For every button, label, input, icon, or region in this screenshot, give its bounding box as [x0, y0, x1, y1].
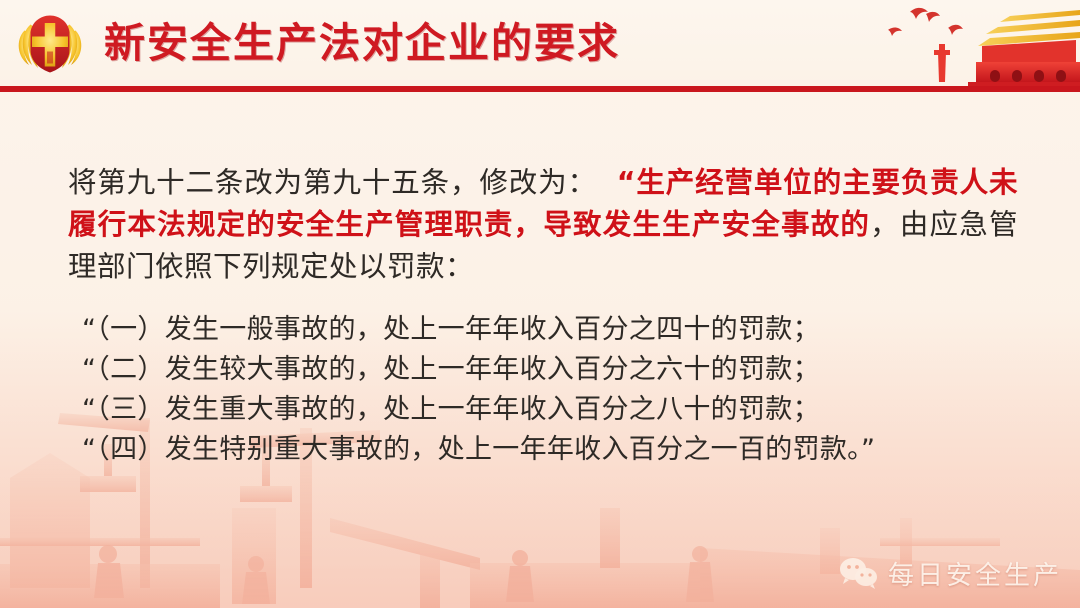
watermark: 每日安全生产: [838, 555, 1062, 592]
list-item: “（一）发生一般事故的，处上一年年收入百分之四十的罚款；: [82, 310, 1022, 350]
list-item: “（四）发生特别重大事故的，处上一年年收入百分之一百的罚款。”: [82, 430, 1022, 470]
list-item: “（二）发生较大事故的，处上一年年收入百分之六十的罚款；: [82, 350, 1022, 390]
page-title: 新安全生产法对企业的要求: [104, 13, 620, 73]
slide-content: 将第九十二条改为第九十五条，修改为： “生产经营单位的主要负责人未履行本法规定的…: [0, 92, 1080, 608]
tiananmen-gate-icon: [850, 0, 1080, 92]
paragraph-open-quote: “: [617, 166, 636, 199]
slide: 新安全生产法对企业的要求: [0, 0, 1080, 608]
main-paragraph: 将第九十二条改为第九十五条，修改为： “生产经营单位的主要负责人未履行本法规定的…: [68, 162, 1018, 288]
wechat-icon: [838, 557, 878, 591]
penalty-list: “（一）发生一般事故的，处上一年年收入百分之四十的罚款； “（二）发生较大事故的…: [82, 310, 1022, 470]
paragraph-lead: 将第九十二条改为第九十五条，修改为：: [68, 166, 597, 199]
safety-production-emblem-icon: [12, 8, 88, 80]
list-item: “（三）发生重大事故的，处上一年年收入百分之八十的罚款；: [82, 390, 1022, 430]
slide-header: 新安全生产法对企业的要求: [0, 0, 1080, 92]
watermark-label: 每日安全生产: [888, 555, 1062, 592]
